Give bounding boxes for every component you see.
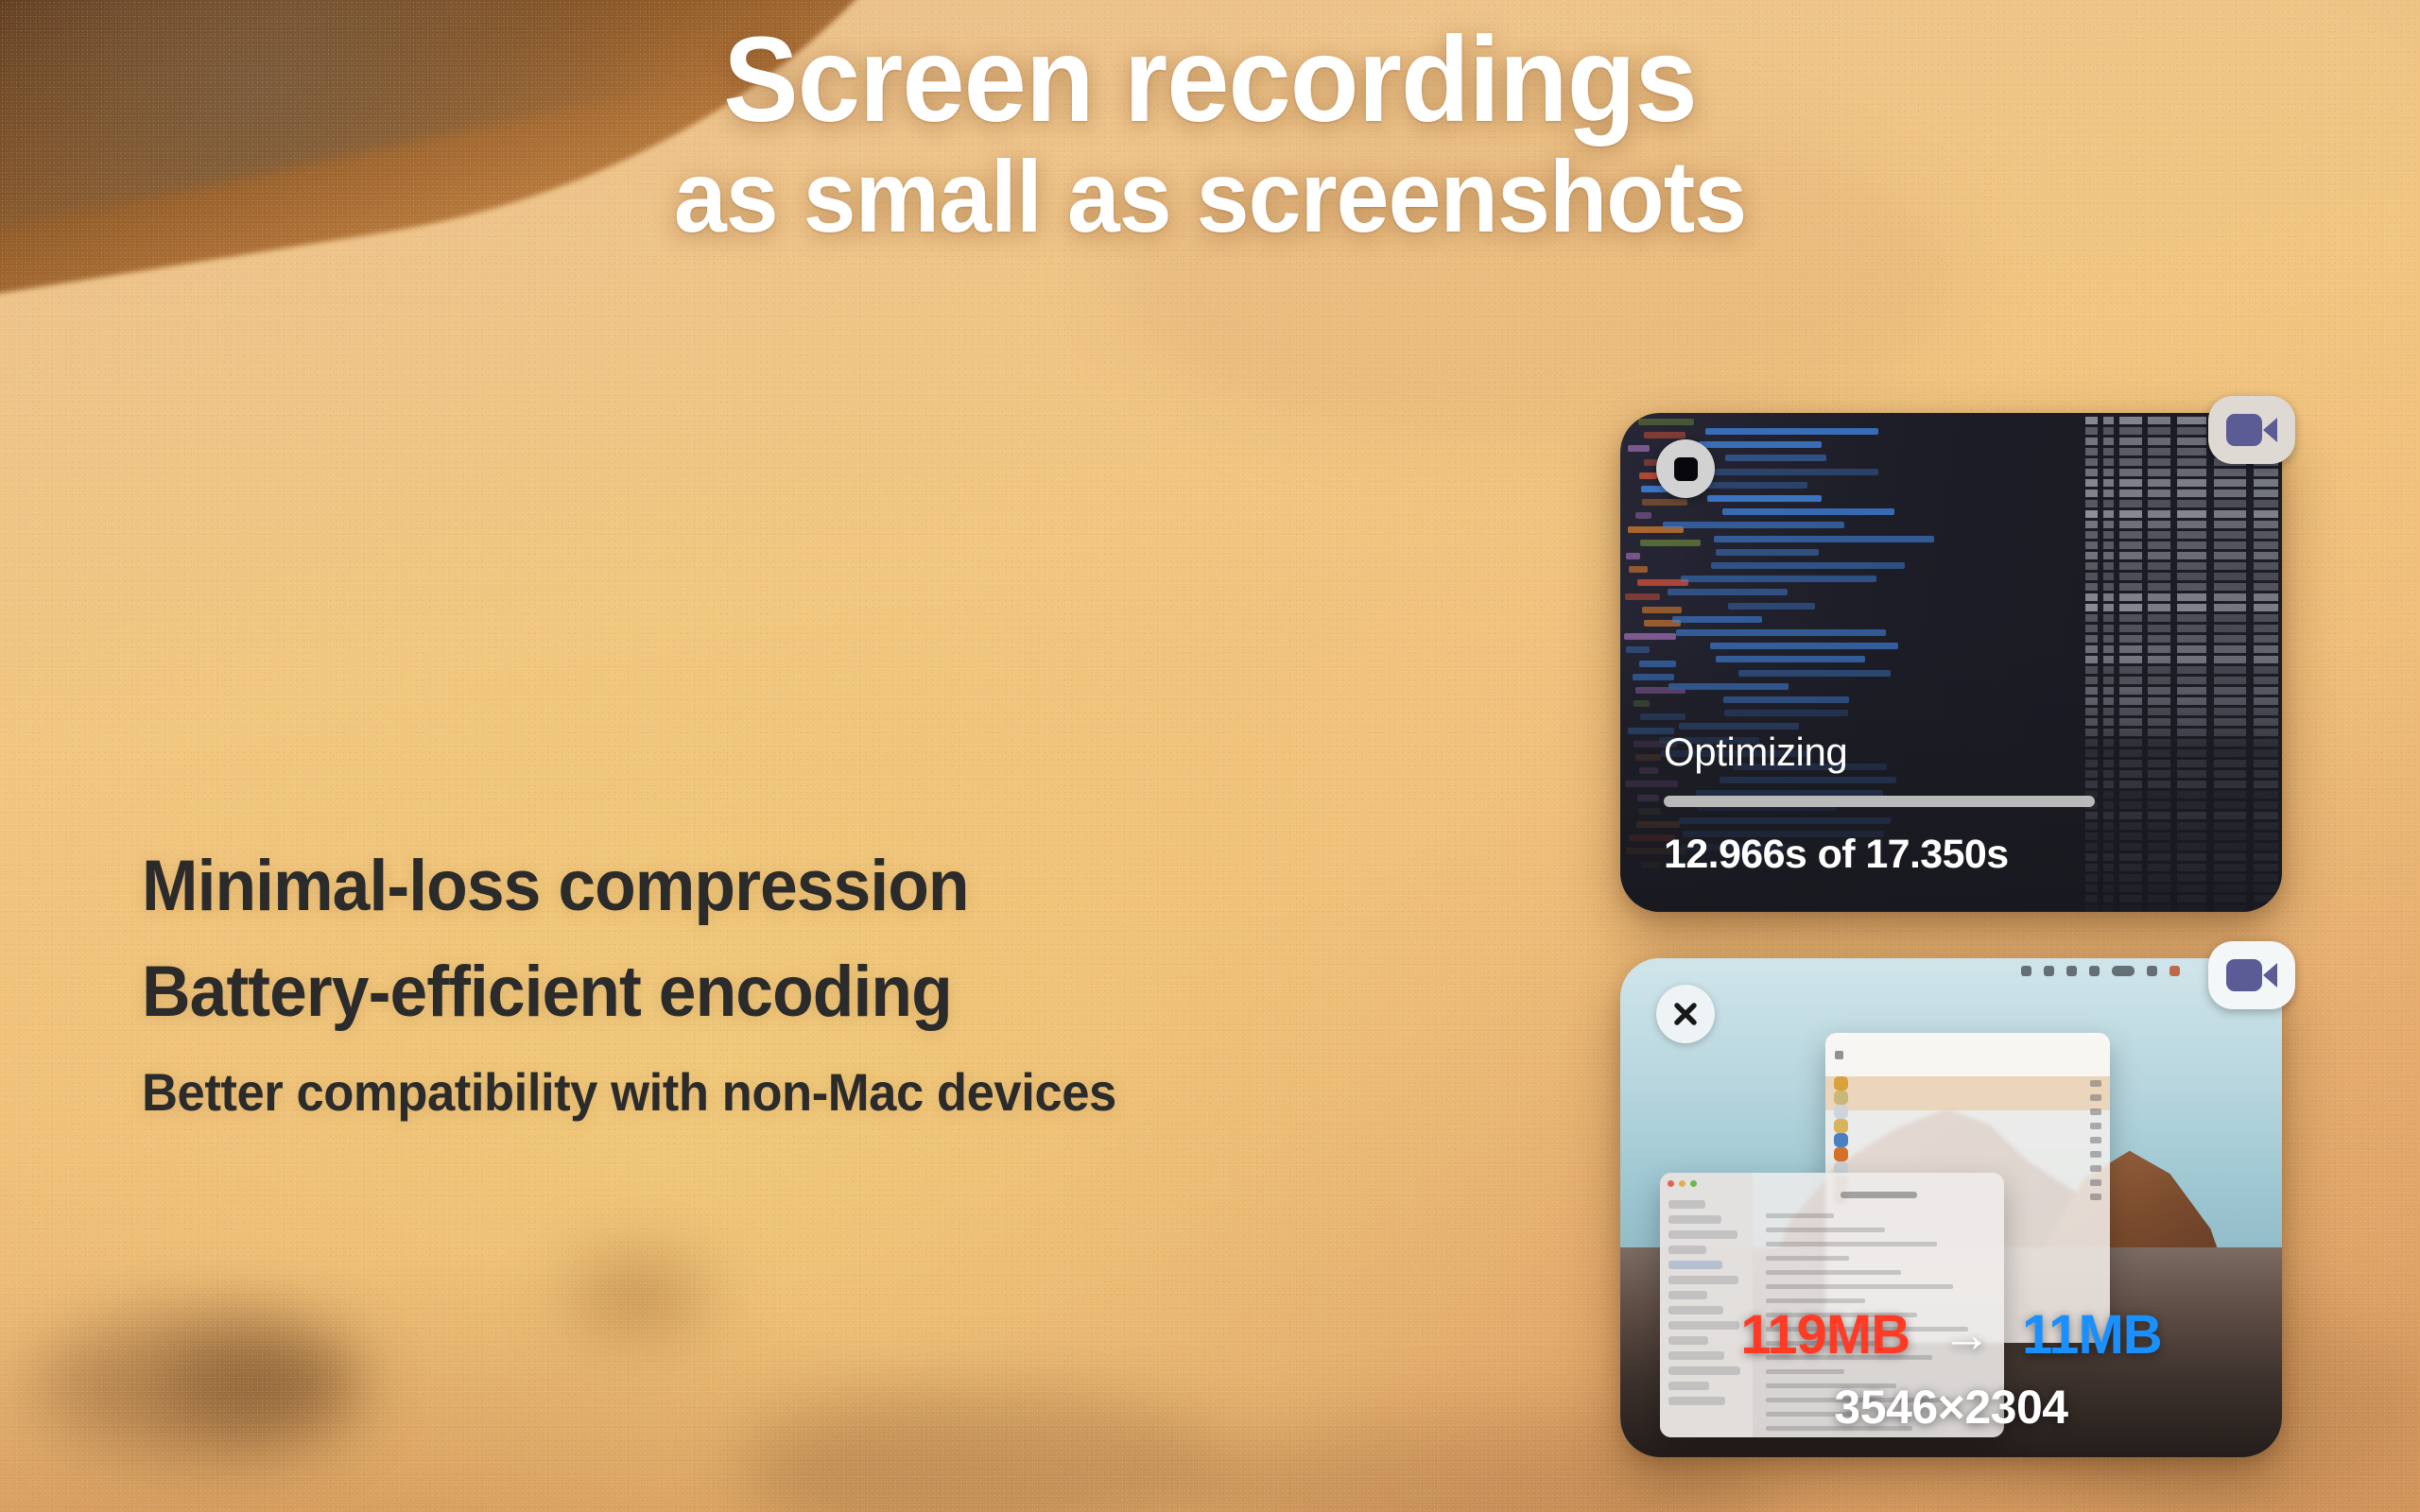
status-label: Optimizing bbox=[1664, 730, 2238, 775]
content-row bbox=[1766, 1284, 1952, 1289]
sidebar-row bbox=[1668, 1215, 1721, 1224]
sidebar-row bbox=[1668, 1276, 1738, 1284]
resolution-label: 3546×2304 bbox=[1620, 1380, 2282, 1435]
poster-stage: Screen recordings as small as screenshot… bbox=[0, 0, 2420, 1512]
content-row bbox=[1766, 1256, 1849, 1261]
sidebar-row bbox=[1668, 1291, 1707, 1299]
content-row bbox=[1766, 1242, 1937, 1246]
progress-bar[interactable] bbox=[1664, 796, 2095, 807]
feature-list: Minimal-loss compression Battery-efficie… bbox=[142, 850, 1116, 1119]
sidebar-row bbox=[1668, 1261, 1722, 1269]
recording-card-content: Optimizing 12.966s of 17.350s bbox=[1620, 413, 2282, 912]
feature-item-compatibility: Better compatibility with non-Mac device… bbox=[142, 1066, 1116, 1119]
headline-line-1: Screen recordings bbox=[85, 21, 2336, 139]
arrow-right-icon: → bbox=[1942, 1307, 1990, 1364]
time-status-label: 12.966s of 17.350s bbox=[1664, 832, 2238, 878]
menubar-icon bbox=[2169, 966, 2180, 976]
file-size-comparison: 119MB → 11MB bbox=[1620, 1303, 2282, 1366]
sidebar-row bbox=[1668, 1366, 1740, 1375]
menubar-icon bbox=[2112, 966, 2135, 976]
content-row bbox=[1766, 1369, 1844, 1374]
close-icon bbox=[1671, 1000, 1700, 1028]
content-row bbox=[1766, 1228, 1885, 1232]
sidebar-row bbox=[1668, 1200, 1705, 1209]
list-item bbox=[1825, 1091, 2110, 1105]
list-item bbox=[1825, 1105, 2110, 1119]
menubar-icon bbox=[2066, 966, 2077, 976]
sidebar-row bbox=[1668, 1230, 1737, 1239]
result-card-content: 119MB → 11MB 3546×2304 bbox=[1620, 958, 2282, 1457]
content-heading bbox=[1841, 1192, 1917, 1198]
feature-item-encoding: Battery-efficient encoding bbox=[142, 956, 1116, 1028]
recording-result-card[interactable]: 119MB → 11MB 3546×2304 bbox=[1620, 958, 2282, 1457]
menubar-icon bbox=[2021, 966, 2031, 976]
feature-item-compression: Minimal-loss compression bbox=[142, 850, 1116, 922]
menubar-icon bbox=[2044, 966, 2054, 976]
headline: Screen recordings as small as screenshot… bbox=[85, 21, 2336, 247]
headline-line-2: as small as screenshots bbox=[85, 146, 2336, 247]
list-item bbox=[1825, 1147, 2110, 1161]
list-item bbox=[1825, 1076, 2110, 1091]
list-item bbox=[1825, 1119, 2110, 1133]
recording-progress-card[interactable]: Optimizing 12.966s of 17.350s bbox=[1620, 413, 2282, 912]
mac-menu-bar bbox=[1620, 958, 2282, 983]
size-before-label: 119MB bbox=[1740, 1303, 1910, 1366]
content-row bbox=[1766, 1213, 1833, 1218]
stop-square-icon bbox=[1674, 457, 1698, 481]
sidebar-row bbox=[1668, 1246, 1706, 1254]
video-camera-icon bbox=[2226, 959, 2277, 991]
content-row bbox=[1766, 1270, 1901, 1275]
menubar-icon bbox=[2147, 966, 2157, 976]
stop-recording-button[interactable] bbox=[1656, 439, 1715, 498]
list-item bbox=[1825, 1133, 2110, 1147]
video-camera-badge-recording[interactable] bbox=[2208, 396, 2295, 464]
window-icon bbox=[1835, 1051, 1843, 1059]
video-camera-icon bbox=[2226, 414, 2277, 446]
menubar-icon bbox=[2089, 966, 2100, 976]
video-camera-badge-result[interactable] bbox=[2208, 941, 2295, 1009]
size-after-label: 11MB bbox=[2022, 1303, 2162, 1366]
close-recording-button[interactable] bbox=[1656, 985, 1715, 1043]
window-titlebar bbox=[1825, 1033, 2110, 1076]
recording-status: Optimizing 12.966s of 17.350s bbox=[1664, 730, 2238, 878]
window-traffic-lights bbox=[1668, 1180, 1697, 1187]
